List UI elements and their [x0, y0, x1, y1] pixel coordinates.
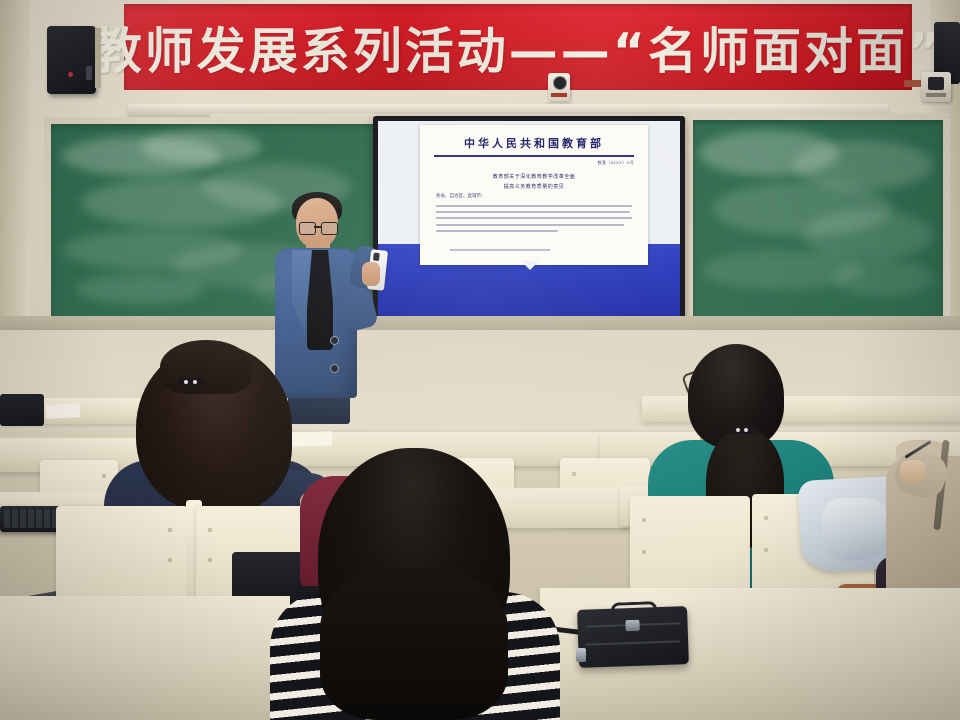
- document-salutation: 各省、自治区、直辖市：: [436, 193, 486, 199]
- surveillance-camera-icon: [921, 72, 951, 102]
- document-subject-line1: 教育部关于深化教育教学改革全面: [493, 174, 576, 180]
- document-reference: 教基〔20XX〕X号: [598, 160, 634, 166]
- speaker-bracket: [95, 28, 101, 88]
- wall-left-column: [0, 0, 30, 340]
- camera-mount-arm: [904, 80, 922, 87]
- display-screen[interactable]: 中华人民共和国教育部 教基〔20XX〕X号 教育部关于深化教育教学改革全面 提高…: [378, 121, 680, 319]
- document-body: [436, 205, 632, 236]
- document-title: 中华人民共和国教育部: [420, 135, 648, 151]
- student-e-hand: [900, 460, 926, 482]
- presenter-hand: [362, 262, 380, 286]
- speaker-grill: [86, 66, 92, 80]
- ptz-camera-stripe: [551, 93, 567, 97]
- briefcase-zipper-pull-icon: [576, 648, 586, 662]
- classroom-photo: 教师发展系列活动——“名师面对面”: [0, 0, 960, 720]
- slide-notch: [521, 261, 539, 270]
- ptz-camera-lens-icon: [553, 76, 567, 90]
- event-banner-text: 教师发展系列活动——“名师面对面”: [124, 4, 912, 90]
- desk-front-left: [0, 596, 290, 720]
- black-briefcase[interactable]: [577, 606, 689, 668]
- blackboard-right: [686, 113, 950, 331]
- briefcase-seam-lower: [586, 640, 680, 645]
- document-subject: 教育部关于深化教育教学改革全面 提高义务教育质量的意见: [420, 173, 648, 192]
- camera-lens-icon: [928, 77, 944, 90]
- document-rule: [434, 155, 634, 157]
- monitor[interactable]: [0, 394, 44, 426]
- camera-body-bar: [926, 93, 946, 97]
- hair-barrette-icon: [178, 378, 204, 385]
- document-signature-line: [450, 249, 550, 251]
- paper-sheet-left: [46, 403, 81, 419]
- presenter-button-lower: [330, 364, 339, 373]
- coat-fold: [822, 498, 892, 560]
- presenter-eyeglasses-icon: [299, 222, 337, 234]
- briefcase-handle-icon: [611, 601, 657, 618]
- student-a-hair-crown: [160, 340, 252, 394]
- wall-speaker-left-icon: [47, 26, 96, 94]
- hair-tie-icon: [730, 426, 756, 434]
- presenter-button-upper: [330, 336, 339, 345]
- student-b-hair-length: [320, 568, 508, 720]
- slide-document: 中华人民共和国教育部 教基〔20XX〕X号 教育部关于深化教育教学改革全面 提高…: [420, 125, 648, 265]
- event-banner: 教师发展系列活动——“名师面对面”: [124, 4, 912, 90]
- speaker-led-icon: [68, 72, 73, 77]
- briefcase-lock-icon: [625, 620, 639, 631]
- document-subject-line2: 提高义务教育质量的意见: [504, 184, 565, 190]
- paper-notes: [288, 431, 332, 447]
- interactive-flat-panel[interactable]: 中华人民共和国教育部 教基〔20XX〕X号 教育部关于深化教育教学改革全面 提高…: [373, 116, 685, 324]
